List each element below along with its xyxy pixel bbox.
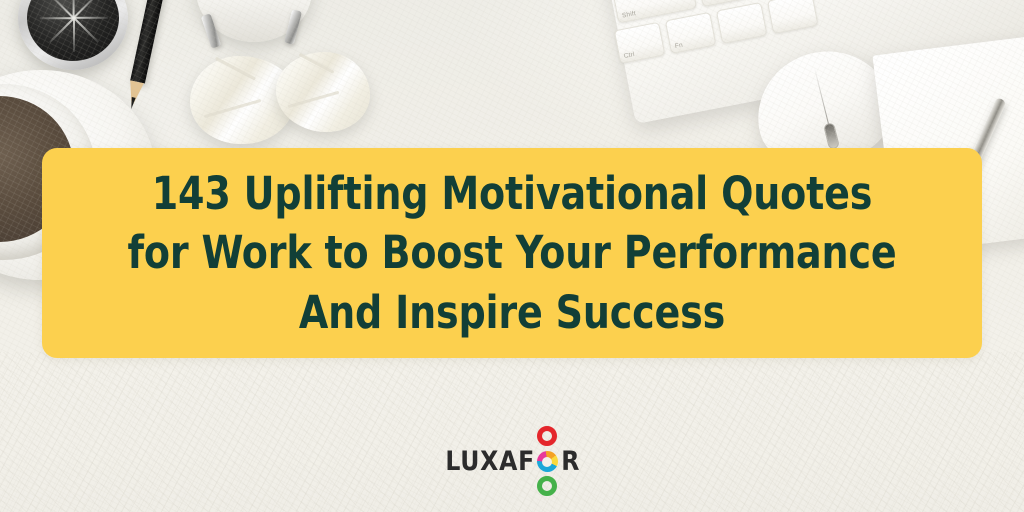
keyboard-key-label: Shift bbox=[622, 10, 637, 20]
logo-wordmark-tail: R bbox=[561, 446, 580, 477]
logo-wordmark: LUXAF bbox=[445, 446, 535, 477]
keyboard-key bbox=[716, 2, 768, 44]
keyboard-key-label: Fn bbox=[674, 42, 683, 50]
logo-inner: LUXAF R bbox=[444, 424, 581, 498]
brand-logo[interactable]: LUXAF R bbox=[0, 424, 1024, 498]
keyboard-key-fn: Fn bbox=[665, 12, 717, 54]
logo-ring-multicolor-icon bbox=[537, 451, 558, 472]
crumpled-paper bbox=[276, 52, 370, 132]
keyboard-key bbox=[767, 0, 819, 34]
logo-ring-red-icon bbox=[537, 426, 557, 446]
page-title: 143 Uplifting Motivational Quotes for Wo… bbox=[128, 164, 897, 342]
mouse-button-split bbox=[814, 67, 830, 127]
keyboard-key-label: Ctrl bbox=[623, 51, 635, 60]
mouse-scroll-wheel bbox=[823, 122, 840, 150]
compass-dial bbox=[27, 0, 119, 61]
keyboard-key-ctrl: Ctrl bbox=[614, 22, 666, 64]
logo-rings bbox=[537, 424, 561, 498]
logo-ring-green-icon bbox=[537, 476, 557, 496]
headline-banner: 143 Uplifting Motivational Quotes for Wo… bbox=[42, 148, 982, 358]
